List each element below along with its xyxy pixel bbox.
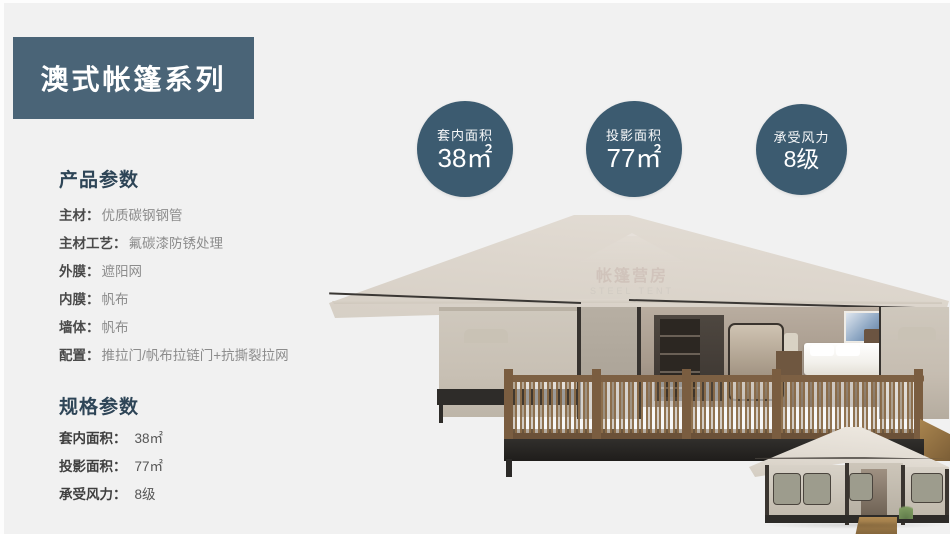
small-tent-window: [849, 473, 873, 501]
stat-badge-interior-area: 套内面积 38㎡: [417, 101, 513, 197]
param-row: 主材：优质碳钢钢管: [59, 202, 359, 230]
shelf-line: [660, 371, 700, 373]
product-params-heading: 产品参数: [59, 165, 359, 192]
small-tent-image: [749, 421, 950, 534]
deck-railing-post: [592, 369, 601, 441]
small-tent-plant: [899, 501, 913, 519]
spec-row: 套内面积：38㎡: [59, 425, 359, 453]
interior-lamp: [784, 333, 798, 351]
tent-left-base-leg: [439, 403, 443, 423]
badge-value: 77㎡: [607, 145, 662, 172]
small-tent-window: [773, 473, 801, 505]
spec-label: 承受风力：: [59, 487, 127, 502]
param-label: 主材工艺：: [59, 236, 127, 251]
tent-window-left-shade: [464, 329, 508, 343]
tent-roof-canopy: [329, 215, 949, 320]
param-label: 墙体：: [59, 320, 100, 335]
small-tent-window: [911, 473, 943, 503]
deck-railing-post: [682, 369, 691, 441]
info-column: 产品参数 主材：优质碳钢钢管 主材工艺：氟碳漆防锈处理 外膜：遮阳网 内膜：帆布…: [59, 165, 359, 509]
stat-badge-projected-area: 投影面积 77㎡: [586, 101, 682, 197]
param-label: 配置：: [59, 348, 100, 363]
badge-value: 8级: [784, 147, 820, 171]
spec-value: 77㎡: [135, 459, 164, 474]
deck-base-leg: [506, 459, 512, 477]
interior-pillow: [810, 345, 834, 356]
param-value: 氟碳漆防锈处理: [129, 236, 224, 251]
param-row: 墙体：帆布: [59, 314, 359, 342]
param-label: 主材：: [59, 208, 100, 223]
spec-label: 投影面积：: [59, 459, 127, 474]
interior-pillow: [836, 345, 860, 356]
spec-label: 套内面积：: [59, 431, 127, 446]
shelf-line: [660, 353, 700, 355]
badge-caption: 套内面积: [437, 125, 493, 144]
small-tent-window: [803, 473, 831, 505]
spec-row: 承受风力：8级: [59, 481, 359, 509]
param-row: 配置：推拉门/帆布拉链门+抗撕裂拉网: [59, 342, 359, 370]
param-value: 帆布: [102, 320, 129, 335]
product-params-block: 产品参数 主材：优质碳钢钢管 主材工艺：氟碳漆防锈处理 外膜：遮阳网 内膜：帆布…: [59, 165, 359, 370]
param-row: 内膜：帆布: [59, 286, 359, 314]
param-value: 遮阳网: [102, 264, 143, 279]
param-value: 帆布: [102, 292, 129, 307]
spec-row: 投影面积：77㎡: [59, 453, 359, 481]
stat-badge-wind-resistance: 承受风力 8级: [756, 104, 847, 195]
param-value: 优质碳钢钢管: [102, 208, 183, 223]
badge-caption: 投影面积: [606, 125, 662, 144]
small-tent-post: [945, 469, 949, 521]
deck-railing-post: [504, 369, 513, 441]
param-row: 外膜：遮阳网: [59, 258, 359, 286]
param-value: 推拉门/帆布拉链门+抗撕裂拉网: [102, 348, 289, 363]
tent-window-right-shade: [898, 327, 936, 340]
shelf-line: [660, 335, 700, 337]
param-label: 内膜：: [59, 292, 100, 307]
param-row: 主材工艺：氟碳漆防锈处理: [59, 230, 359, 258]
spec-params-heading: 规格参数: [59, 392, 359, 419]
page-title: 澳式帐篷系列: [40, 58, 226, 98]
deck-railing-top-bar: [504, 375, 924, 382]
param-label: 外膜：: [59, 264, 100, 279]
badge-caption: 承受风力: [773, 127, 829, 146]
spec-params-block: 规格参数 套内面积：38㎡ 投影面积：77㎡ 承受风力：8级: [59, 392, 359, 509]
spec-value: 8级: [135, 487, 156, 502]
spec-value: 38㎡: [135, 431, 164, 446]
slide-root: 澳式帐篷系列 产品参数 主材：优质碳钢钢管 主材工艺：氟碳漆防锈处理 外膜：遮阳…: [0, 0, 950, 534]
badge-value: 38㎡: [438, 145, 493, 172]
title-banner: 澳式帐篷系列: [13, 37, 254, 119]
small-tent-shadow: [759, 521, 949, 529]
